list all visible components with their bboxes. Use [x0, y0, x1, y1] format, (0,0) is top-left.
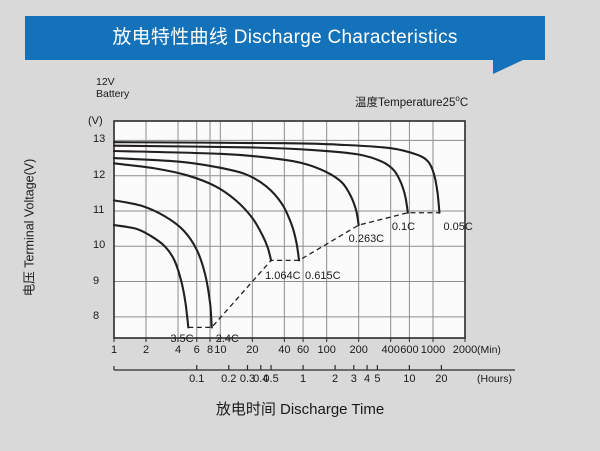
curve-label-0.615C: 0.615C	[305, 270, 340, 282]
x-hour-tick-10: 10	[403, 373, 415, 385]
x-min-tick-2000: 2000	[453, 344, 477, 356]
x-min-tick-200: 200	[349, 344, 367, 356]
y-tick-9: 9	[93, 275, 99, 287]
y-tick-11: 11	[93, 204, 104, 216]
chart-plot-svg	[0, 70, 600, 451]
x-min-tick-8: 8	[207, 344, 213, 356]
x-hour-tick-1: 1	[300, 373, 306, 385]
x-min-tick-2: 2	[143, 344, 149, 356]
x-hour-tick-0.2: 0.2	[221, 373, 236, 385]
x-min-tick-1: 1	[111, 344, 117, 356]
y-tick-10: 10	[93, 239, 105, 251]
x-hour-tick-5: 5	[374, 373, 380, 385]
curve-label-0.05C: 0.05C	[443, 221, 472, 233]
x-min-tick-4: 4	[175, 344, 181, 356]
x-min-tick-400: 400	[381, 344, 399, 356]
x-min-tick-600: 600	[400, 344, 418, 356]
curve-label-0.1C: 0.1C	[392, 221, 415, 233]
x-hour-tick-2: 2	[332, 373, 338, 385]
x-min-tick-6: 6	[194, 344, 200, 356]
header-banner: 放电特性曲线 Discharge Characteristics	[25, 16, 545, 60]
curve-label-1.064C: 1.064C	[265, 270, 300, 282]
x-min-tick-100: 100	[317, 344, 335, 356]
curve-label-3.5C: 3.5C	[170, 333, 193, 345]
x-hour-tick-0.5: 0.5	[263, 373, 278, 385]
minutes-unit-label: (Min)	[477, 344, 501, 356]
page-title: 放电特性曲线 Discharge Characteristics	[25, 16, 545, 60]
curve-label-2.4C: 2.4C	[216, 333, 239, 345]
x-min-tick-1000: 1000	[421, 344, 445, 356]
y-tick-8: 8	[93, 310, 99, 322]
discharge-characteristics-chart: 12V Battery 温度Temperature25oC (V) 电压 Ter…	[0, 70, 600, 451]
x-min-tick-60: 60	[297, 344, 309, 356]
page-root: 放电特性曲线 Discharge Characteristics 12V Bat…	[0, 0, 600, 451]
y-tick-12: 12	[93, 169, 105, 181]
x-min-tick-20: 20	[246, 344, 258, 356]
x-min-tick-10: 10	[214, 344, 226, 356]
hours-unit-label: (Hours)	[477, 373, 512, 385]
x-min-tick-40: 40	[278, 344, 290, 356]
x-hour-tick-0.1: 0.1	[189, 373, 204, 385]
curve-label-0.263C: 0.263C	[349, 233, 384, 245]
y-tick-13: 13	[93, 133, 105, 145]
x-hour-tick-3: 3	[351, 373, 357, 385]
x-hour-tick-4: 4	[364, 373, 370, 385]
x-hour-tick-20: 20	[435, 373, 447, 385]
